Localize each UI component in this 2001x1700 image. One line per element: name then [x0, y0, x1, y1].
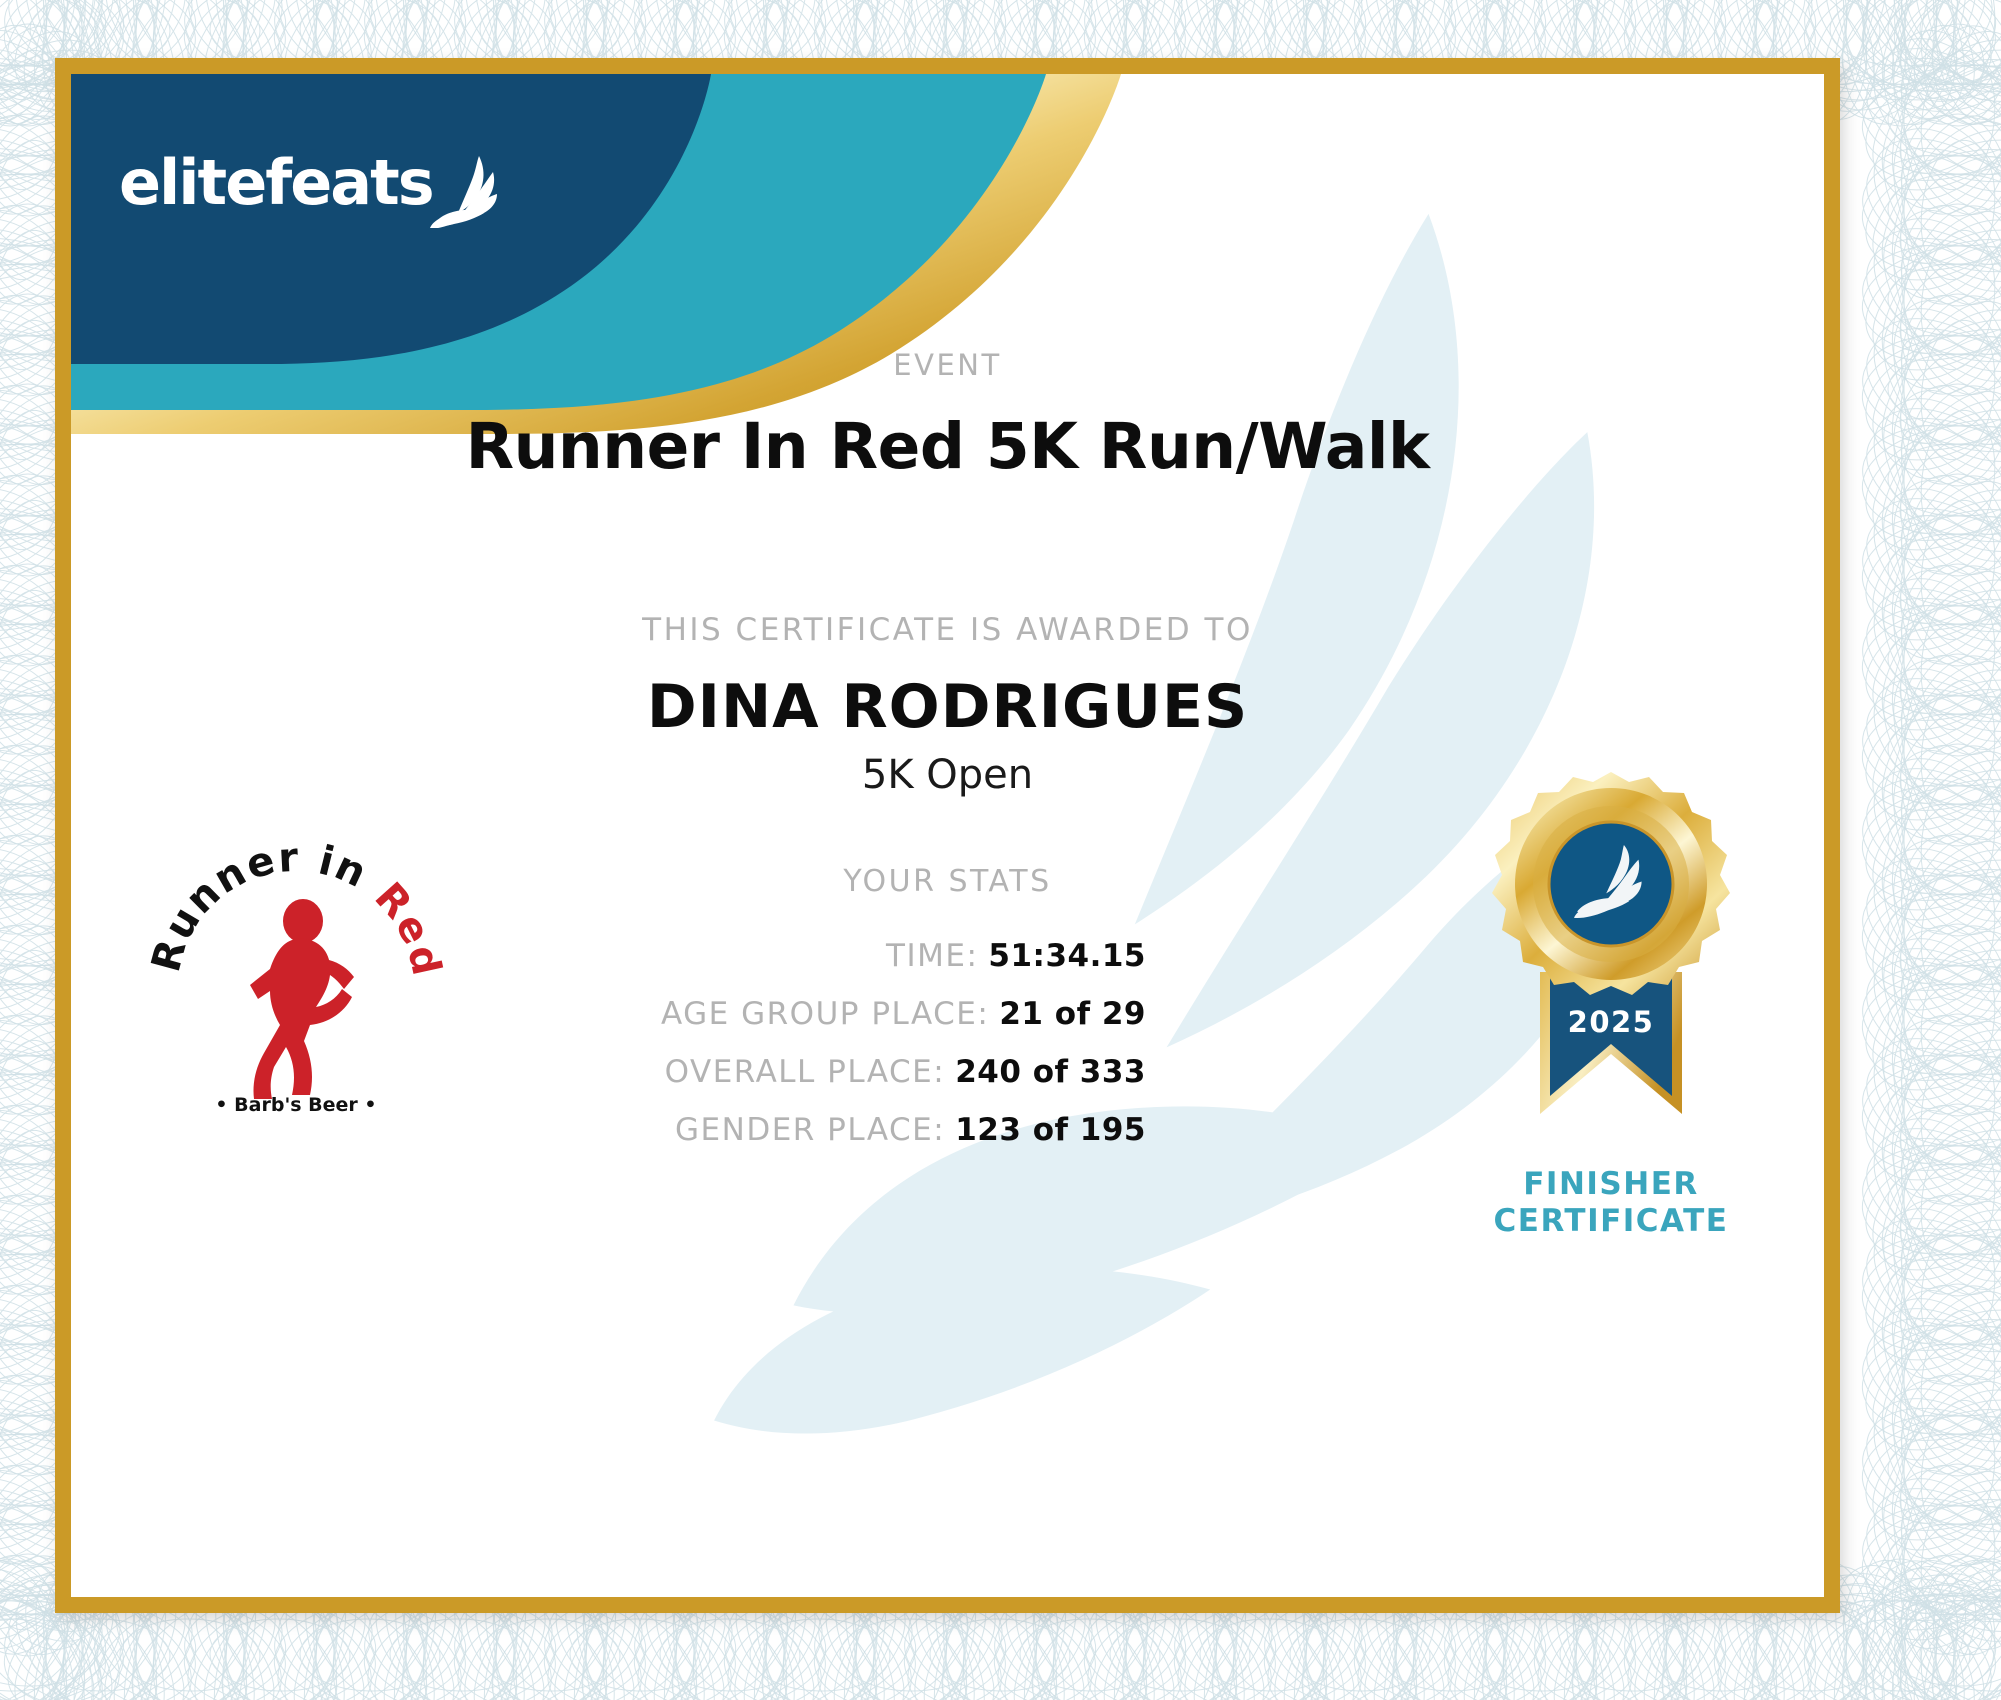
stat-key: GENDER PLACE: — [675, 1112, 945, 1148]
logo-bottom-text: • Barb's Beer • — [215, 1094, 376, 1116]
stat-key: OVERALL PLACE: — [665, 1054, 946, 1090]
medal-disc — [1492, 772, 1730, 995]
stat-value: 51:34.15 — [988, 938, 1146, 974]
event-label: EVENT — [71, 348, 1824, 382]
stat-key: AGE GROUP PLACE: — [661, 996, 989, 1032]
logo-arc-black: Runner in — [146, 835, 375, 977]
finisher-certificate-caption: FINISHER CERTIFICATE — [1401, 1166, 1821, 1239]
certificate-card: elitefeats EVENT Runner In Red 5K Run/Wa… — [55, 58, 1840, 1613]
finisher-line-2: CERTIFICATE — [1401, 1203, 1821, 1240]
logo-arc-suffix: .com — [146, 829, 168, 839]
runner-in-red-logo: Runner in Red .com • Barb's Beer • — [146, 829, 446, 1129]
event-title: Runner In Red 5K Run/Walk — [71, 410, 1824, 483]
awardee-name: DINA RODRIGUES — [71, 672, 1824, 742]
badge-year: 2025 — [1568, 1005, 1655, 1039]
finisher-line-1: FINISHER — [1401, 1166, 1821, 1203]
stat-value: 123 of 195 — [955, 1112, 1146, 1148]
stat-value: 240 of 333 — [955, 1054, 1146, 1090]
logo-arc-red: Red — [366, 874, 446, 981]
stat-key: TIME: — [886, 938, 978, 974]
finisher-medal-badge: 2025 — [1466, 764, 1756, 1154]
awarded-to-label: THIS CERTIFICATE IS AWARDED TO — [71, 612, 1824, 648]
running-person-icon — [250, 899, 354, 1099]
stat-value: 21 of 29 — [999, 996, 1146, 1032]
